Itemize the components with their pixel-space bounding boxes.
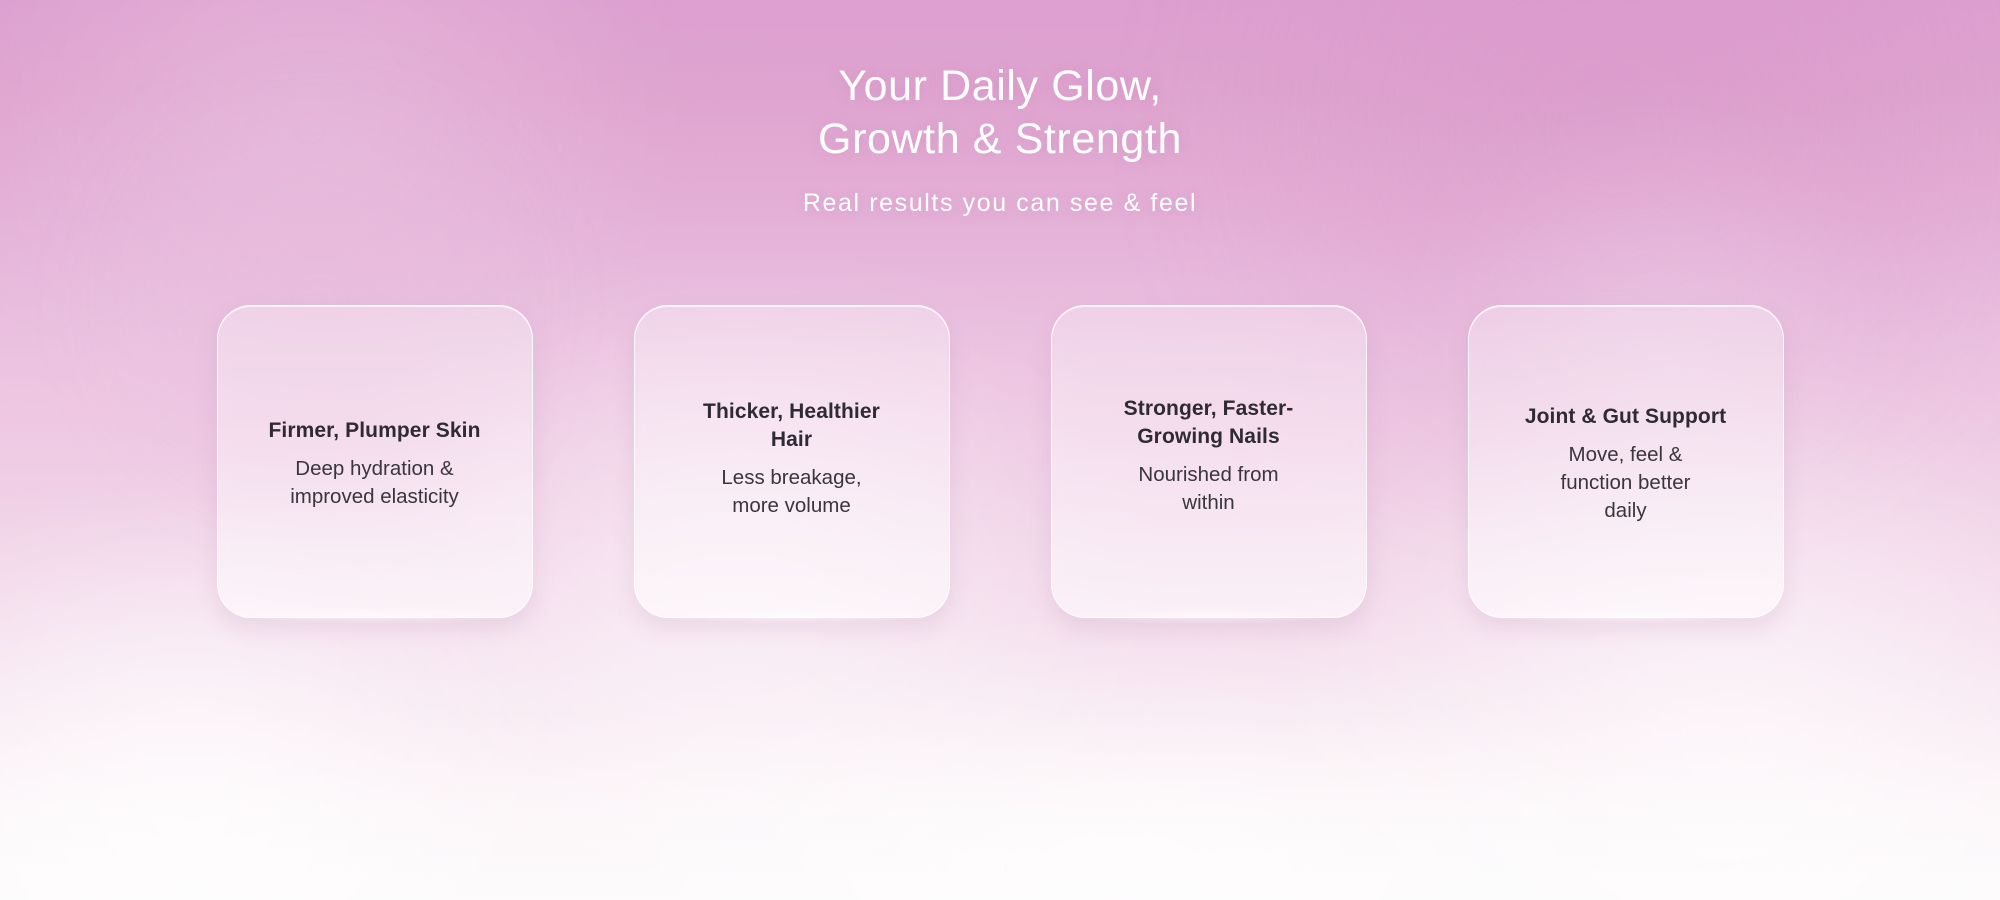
mist-blob-6: [520, 640, 1720, 900]
card-description: Nourished from within: [1072, 461, 1346, 517]
card-description: Move, feel & function better daily: [1489, 441, 1763, 525]
benefit-card-list: Firmer, Plumper Skin Deep hydration & im…: [0, 305, 2000, 618]
benefit-card-stronger-faster-growing-nails[interactable]: Stronger, Faster- Growing Nails Nourishe…: [1051, 305, 1367, 618]
card-title: Firmer, Plumper Skin: [238, 417, 512, 445]
hero-heading-block: Your Daily Glow, Growth & Strength Real …: [0, 60, 2000, 218]
card-description: Deep hydration & improved elasticity: [238, 455, 512, 511]
card-title: Thicker, Healthier Hair: [655, 398, 929, 454]
card-title: Stronger, Faster- Growing Nails: [1072, 395, 1346, 451]
card-title: Joint & Gut Support: [1489, 403, 1763, 431]
page-title: Your Daily Glow, Growth & Strength: [0, 60, 2000, 166]
hero-section: Your Daily Glow, Growth & Strength Real …: [0, 0, 2000, 900]
benefit-card-thicker-healthier-hair[interactable]: Thicker, Healthier Hair Less breakage, m…: [634, 305, 950, 618]
card-content: Stronger, Faster- Growing Nails Nourishe…: [1072, 395, 1346, 517]
card-description: Less breakage, more volume: [655, 464, 929, 520]
page-subtitle: Real results you can see & feel: [0, 189, 2000, 218]
card-content: Thicker, Healthier Hair Less breakage, m…: [655, 398, 929, 520]
benefit-card-joint-gut-support[interactable]: Joint & Gut Support Move, feel & functio…: [1468, 305, 1784, 618]
benefit-card-firmer-plumper-skin[interactable]: Firmer, Plumper Skin Deep hydration & im…: [217, 305, 533, 618]
card-content: Firmer, Plumper Skin Deep hydration & im…: [238, 417, 512, 511]
card-content: Joint & Gut Support Move, feel & functio…: [1489, 403, 1763, 525]
